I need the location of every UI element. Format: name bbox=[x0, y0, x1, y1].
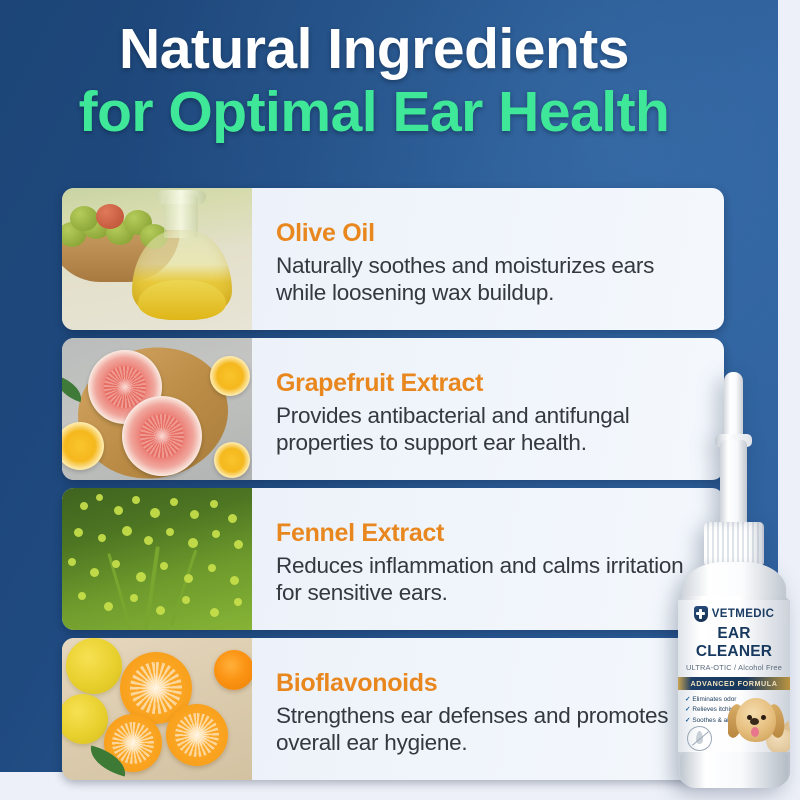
headline-line-2: for Optimal Ear Health bbox=[0, 85, 748, 141]
ingredient-card[interactable]: Bioflavonoids Strengthens ear defenses a… bbox=[62, 638, 724, 780]
grapefruit-photo bbox=[62, 338, 252, 480]
ingredient-card-body: Bioflavonoids Strengthens ear defenses a… bbox=[252, 638, 724, 780]
label-middle-section: Eliminates odor Relieves itching Soothes… bbox=[678, 690, 790, 752]
advanced-formula-text: ADVANCED FORMULA bbox=[691, 679, 778, 688]
bottle-cap bbox=[704, 522, 764, 566]
headline: Natural Ingredients for Optimal Ear Heal… bbox=[0, 22, 748, 141]
brand-name: VETMEDIC bbox=[712, 608, 775, 620]
ingredient-card-body: Fennel Extract Reduces inflammation and … bbox=[252, 488, 724, 630]
olive-oil-photo bbox=[62, 188, 252, 330]
product-bottle[interactable]: VETMEDIC EAR CLEANER ULTRA-OTIC / Alcoho… bbox=[668, 372, 796, 796]
product-subtitle: ULTRA-OTIC / Alcohol Free bbox=[678, 663, 790, 672]
no-drop-icon bbox=[687, 726, 712, 751]
ingredient-title: Bioflavonoids bbox=[276, 670, 708, 696]
ingredient-description: Naturally soothes and moisturizes ears w… bbox=[276, 252, 708, 306]
bottle-nozzle-shaft bbox=[720, 440, 747, 528]
ingredient-title: Olive Oil bbox=[276, 220, 708, 246]
ingredient-card[interactable]: Olive Oil Naturally soothes and moisturi… bbox=[62, 188, 724, 330]
ingredient-card-list: Olive Oil Naturally soothes and moisturi… bbox=[62, 188, 724, 780]
ingredient-card[interactable]: Grapefruit Extract Provides antibacteria… bbox=[62, 338, 724, 480]
ingredient-card-body: Grapefruit Extract Provides antibacteria… bbox=[252, 338, 724, 480]
brand-lockup: VETMEDIC bbox=[678, 606, 790, 622]
ingredient-title: Fennel Extract bbox=[276, 520, 708, 546]
ingredient-description: Reduces inflammation and calms irritatio… bbox=[276, 552, 708, 606]
poster-canvas: Natural Ingredients for Optimal Ear Heal… bbox=[0, 0, 800, 800]
ingredient-title: Grapefruit Extract bbox=[276, 370, 708, 396]
headline-line-1: Natural Ingredients bbox=[0, 22, 748, 78]
fennel-photo bbox=[62, 488, 252, 630]
ingredient-description: Provides antibacterial and antifungal pr… bbox=[276, 402, 708, 456]
advanced-formula-band: ADVANCED FORMULA bbox=[678, 677, 790, 690]
ingredient-card[interactable]: Fennel Extract Reduces inflammation and … bbox=[62, 488, 724, 630]
product-title: EAR CLEANER bbox=[678, 625, 790, 661]
ingredient-card-body: Olive Oil Naturally soothes and moisturi… bbox=[252, 188, 724, 330]
dog-and-cat-photo bbox=[728, 690, 790, 752]
product-label: VETMEDIC EAR CLEANER ULTRA-OTIC / Alcoho… bbox=[678, 600, 790, 752]
citrus-photo bbox=[62, 638, 252, 780]
shield-cross-icon bbox=[694, 606, 708, 622]
ingredient-description: Strengthens ear defenses and promotes ov… bbox=[276, 702, 708, 756]
